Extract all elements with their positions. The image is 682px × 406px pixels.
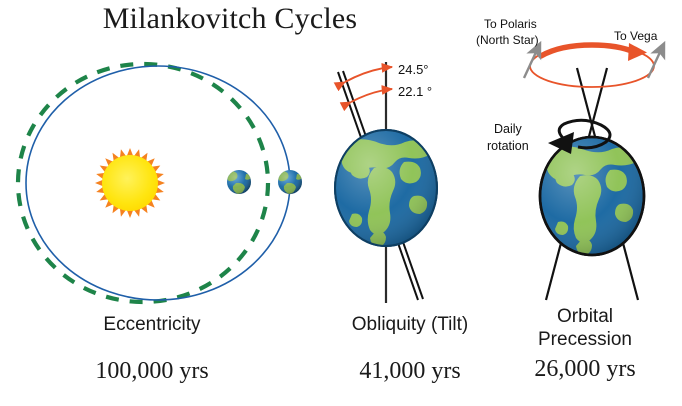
years-eccentricity: 100,000 yrs bbox=[42, 358, 262, 385]
years-obliquity: 41,000 yrs bbox=[300, 358, 520, 385]
polaris-label-line2: (North Star) bbox=[476, 33, 539, 47]
caption-obliquity: Obliquity (Tilt) bbox=[300, 313, 520, 336]
obliquity-angle-arc-max bbox=[345, 67, 392, 82]
sun-icon bbox=[95, 148, 165, 218]
precession-circle-arrow bbox=[530, 43, 654, 87]
years-precession: 26,000 yrs bbox=[488, 356, 682, 383]
earth-on-alternate-orbit bbox=[226, 170, 251, 195]
polaris-label-line1: To Polaris bbox=[484, 17, 537, 31]
precession-cone-lines bbox=[546, 68, 638, 300]
earth-globe-obliquity bbox=[335, 130, 437, 247]
daily-rotation-arrow bbox=[548, 120, 610, 154]
alternate-orbit-path bbox=[18, 64, 268, 302]
daily-rotation-label-line1: Daily bbox=[494, 122, 523, 136]
caption-precession-line1: Orbital bbox=[488, 305, 682, 328]
obliquity-angle-arc-min bbox=[351, 89, 392, 102]
obliquity-max-angle-label: 24.5° bbox=[398, 62, 429, 77]
caption-precession-line2: Precession bbox=[488, 328, 682, 351]
page-title: Milankovitch Cycles bbox=[0, 2, 460, 36]
tilt-axis-line bbox=[338, 71, 423, 300]
obliquity-min-angle-label: 22.1 ° bbox=[398, 84, 432, 99]
earth-on-current-orbit bbox=[277, 170, 302, 195]
caption-eccentricity: Eccentricity bbox=[42, 313, 262, 336]
vega-label: To Vega bbox=[614, 29, 658, 43]
milankovitch-cycles-diagram: Milankovitch Cycles bbox=[0, 0, 682, 406]
vega-direction-arrow bbox=[648, 50, 661, 78]
earth-globe-precession bbox=[540, 137, 644, 255]
current-orbit-path bbox=[26, 66, 290, 300]
caption-precession: Orbital Precession bbox=[488, 305, 682, 351]
polaris-direction-arrow bbox=[524, 50, 537, 78]
daily-rotation-label-line2: rotation bbox=[487, 139, 529, 153]
